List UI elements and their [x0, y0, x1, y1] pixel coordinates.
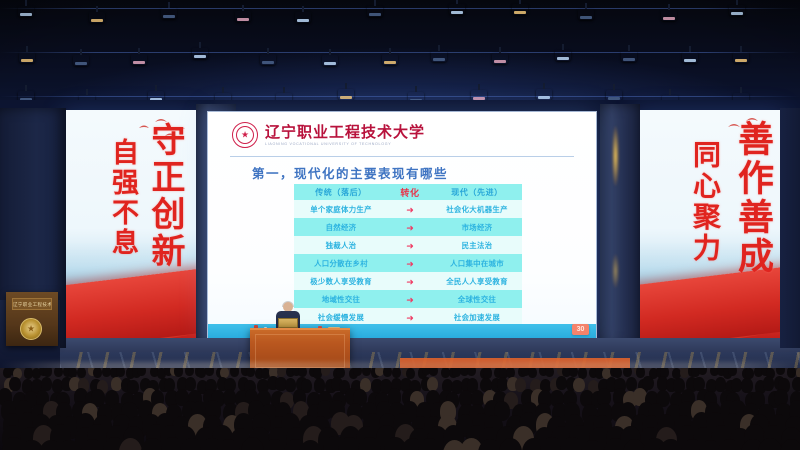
audience-member [54, 368, 63, 377]
audience-member [93, 368, 102, 378]
truss-bar-1 [0, 8, 800, 9]
university-seal-icon: ★ [232, 122, 258, 148]
audience-member [728, 368, 737, 376]
table-cell-arrow: ➜ [388, 290, 432, 308]
truss-bar-3 [0, 96, 800, 97]
audience-member [362, 368, 371, 376]
table-cell-arrow: ➜ [388, 236, 432, 254]
audience-member [741, 378, 752, 392]
stage-light [729, 5, 745, 16]
lectern-emblem-icon [20, 318, 42, 340]
table-row: 自然经济➜市场经济 [294, 218, 522, 236]
projection-screen: ★ 辽宁职业工程技术大学 LIAONING VOCATIONAL UNIVERS… [208, 112, 596, 340]
audience-member [776, 368, 785, 375]
arrow-right-icon: ➜ [406, 278, 414, 287]
stage-light [578, 9, 594, 20]
presentation-slide: ★ 辽宁职业工程技术大学 LIAONING VOCATIONAL UNIVERS… [208, 112, 596, 340]
audience-member [623, 368, 632, 377]
slide-page-number: 30 [572, 324, 589, 335]
table-header-row: 传统（落后）转化现代（先进） [294, 184, 522, 200]
led-banner-left: 守正创新 自强不息 [62, 110, 197, 338]
audience-member [787, 368, 796, 378]
table-cell-traditional: 地域性交往 [294, 290, 388, 308]
table-cell-modern: 市场经济 [432, 218, 522, 236]
audience-member [429, 368, 438, 376]
stage-light [260, 54, 276, 65]
slide-divider [230, 156, 574, 157]
audience-member [116, 368, 125, 377]
audience-member [763, 376, 774, 390]
stage-light [235, 11, 251, 22]
led-banner-right: 善作善成 同心聚力 [634, 110, 784, 338]
table-cell-modern: 人口集中在城市 [432, 254, 522, 272]
stage-light [338, 89, 354, 100]
arrow-right-icon: ➜ [406, 206, 414, 215]
table-cell-modern: 全球性交往 [432, 290, 522, 308]
table-cell-traditional: 极少数人享受教育 [294, 272, 388, 290]
frame-light-right-lower [612, 254, 619, 288]
banner-left-line2: 自强不息 [109, 138, 135, 258]
stage-light [661, 10, 677, 21]
banner-left-line1: 守正创新 [149, 122, 181, 270]
audience-member [406, 368, 415, 379]
audience-member [285, 378, 296, 392]
audience-member [613, 368, 622, 378]
stage-light [131, 54, 147, 65]
table-cell-modern: 全民人人享受教育 [432, 272, 522, 290]
table-row: 单个家庭体力生产➜社会化大机器生产 [294, 200, 522, 218]
side-lectern: 辽宁职业工程技术大学 [6, 292, 58, 346]
audience-member [9, 377, 20, 391]
table-cell-modern: 民主法治 [432, 236, 522, 254]
stage-light [161, 8, 177, 19]
table-cell-arrow: ➜ [388, 200, 432, 218]
lectern-plaque: 辽宁职业工程技术大学 [12, 298, 52, 310]
table-cell-arrow: ➜ [388, 272, 432, 290]
table-header-middle: 转化 [388, 184, 432, 200]
stage-light [512, 4, 528, 15]
slide-title: 第一，现代化的主要表现有哪些 [252, 163, 448, 182]
audience-member [298, 368, 307, 377]
comparison-table: 传统（落后）转化现代（先进）单个家庭体力生产➜社会化大机器生产自然经济➜市场经济… [294, 184, 522, 326]
stage-light [682, 52, 698, 63]
audience-member [745, 368, 754, 379]
audience-member [43, 368, 52, 377]
audience-member [353, 368, 362, 376]
audience-member [545, 368, 554, 377]
table-cell-traditional: 人口分散在乡村 [294, 254, 388, 272]
right-curtain [780, 108, 800, 348]
slide-logo: ★ 辽宁职业工程技术大学 LIAONING VOCATIONAL UNIVERS… [232, 122, 425, 148]
ceiling [0, 0, 800, 108]
stage-light [555, 50, 571, 61]
stage-light [606, 90, 622, 101]
table-cell-arrow: ➜ [388, 218, 432, 236]
table-cell-traditional: 独裁人治 [294, 236, 388, 254]
lecture-hall-scene: 守正创新 自强不息 善作善成 同心聚力 ★ 辽宁职业 [0, 0, 800, 450]
screen-frame-right [600, 104, 640, 346]
table-cell-arrow: ➜ [388, 254, 432, 272]
stage-light [536, 89, 552, 100]
audience-member [642, 376, 653, 390]
frame-light-right [612, 126, 619, 186]
arrow-right-icon: ➜ [406, 314, 414, 323]
audience-member [277, 368, 286, 377]
university-name-cn: 辽宁职业工程技术大学 [265, 125, 425, 140]
stage-light [382, 54, 398, 65]
arrow-right-icon: ➜ [406, 260, 414, 269]
table-header-right: 现代（先进） [432, 184, 522, 200]
arrow-right-icon: ➜ [406, 296, 414, 305]
table-row: 独裁人治➜民主法治 [294, 236, 522, 254]
stage-light [367, 6, 383, 17]
arrow-right-icon: ➜ [406, 224, 414, 233]
stage-light [492, 53, 508, 64]
audience-member [392, 368, 401, 378]
audience-member [383, 368, 392, 377]
stage-light [449, 4, 465, 15]
audience-member [174, 368, 183, 377]
university-name-en: LIAONING VOCATIONAL UNIVERSITY OF TECHNO… [265, 142, 425, 146]
stage-light [295, 12, 311, 23]
banner-right-line1: 善作善成 [736, 120, 770, 276]
stage-light [431, 51, 447, 62]
arrow-right-icon: ➜ [406, 242, 414, 251]
stage-light [192, 48, 208, 59]
truss-bar-2 [0, 52, 800, 53]
audience-member [321, 368, 330, 376]
audience-member [246, 368, 255, 377]
stage-light [19, 52, 35, 63]
seal-star-icon: ★ [241, 131, 249, 140]
stage-light [18, 6, 34, 17]
audience-member [569, 368, 578, 377]
audience-member [77, 368, 86, 378]
table-cell-modern: 社会化大机器生产 [432, 200, 522, 218]
audience-member [698, 368, 707, 375]
audience [0, 368, 800, 450]
audience-member [185, 377, 196, 391]
table-row: 地域性交往➜全球性交往 [294, 290, 522, 308]
table-header-left: 传统（落后） [294, 184, 388, 200]
audience-member [467, 368, 476, 376]
audience-member [792, 377, 800, 391]
audience-member [528, 368, 537, 378]
stage-light [733, 52, 749, 63]
audience-member [205, 368, 214, 376]
stage-light [621, 51, 637, 62]
audience-member [230, 368, 239, 377]
table-cell-traditional: 单个家庭体力生产 [294, 200, 388, 218]
table-cell-traditional: 自然经济 [294, 218, 388, 236]
audience-member [185, 368, 194, 376]
stage-light [89, 12, 105, 23]
banner-right-line2: 同心聚力 [691, 140, 718, 264]
stage-light [322, 55, 338, 66]
stage-light [73, 55, 89, 66]
audience-member [137, 368, 146, 376]
table-row: 人口分散在乡村➜人口集中在城市 [294, 254, 522, 272]
table-row: 极少数人享受教育➜全民人人享受教育 [294, 272, 522, 290]
audience-member [578, 368, 587, 379]
